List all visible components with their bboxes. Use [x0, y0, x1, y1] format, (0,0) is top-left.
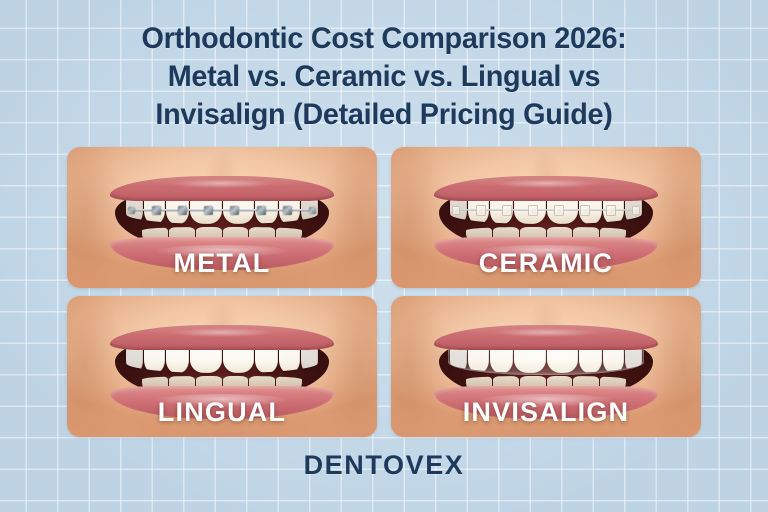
card-label-lingual: LINGUAL — [67, 397, 377, 428]
card-label-invisalign: INVISALIGN — [391, 397, 701, 428]
card-label-metal: METAL — [67, 248, 377, 279]
card-label-ceramic: CERAMIC — [391, 248, 701, 279]
title-line-3: Invisalign (Detailed Pricing Guide) — [15, 96, 752, 134]
comparison-card-grid: METAL — [67, 147, 701, 437]
page-title: Orthodontic Cost Comparison 2026: Metal … — [15, 20, 752, 134]
card-ceramic[interactable]: CERAMIC — [391, 147, 701, 288]
title-line-1: Orthodontic Cost Comparison 2026: — [15, 20, 752, 58]
title-line-2: Metal vs. Ceramic vs. Lingual vs — [15, 58, 752, 96]
card-metal[interactable]: METAL — [67, 147, 377, 288]
card-lingual[interactable]: LINGUAL — [67, 296, 377, 437]
card-invisalign[interactable]: INVISALIGN — [391, 296, 701, 437]
brand-wordmark: DENTOVEX — [0, 450, 768, 481]
